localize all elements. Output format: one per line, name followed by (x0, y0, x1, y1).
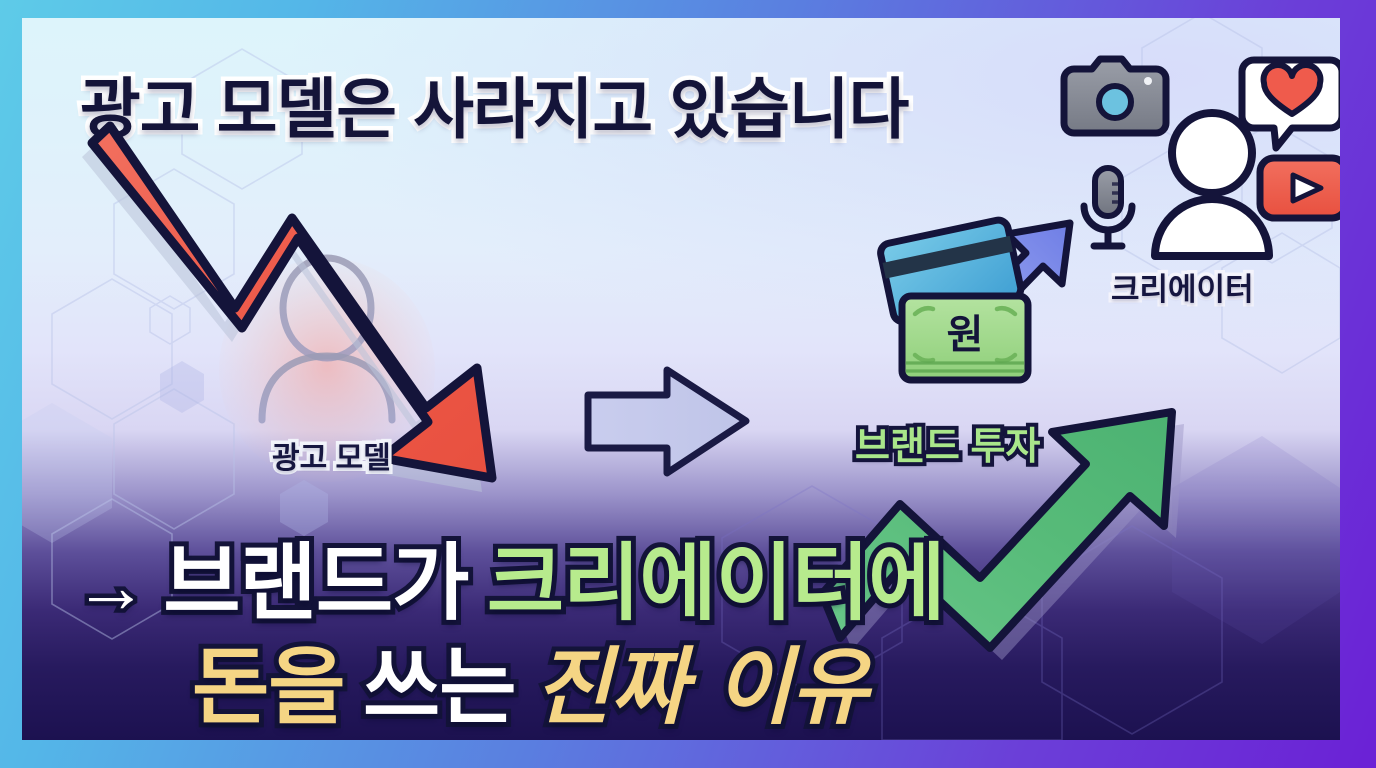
money-currency-text: 원 (947, 313, 984, 357)
headline-real-reason-word: 진짜 이유 (534, 638, 867, 736)
blue-up-arrow-icon (996, 223, 1070, 296)
page-title: 광고 모델은 사라지고 있습니다 (80, 56, 908, 152)
headline-brand-word: 브랜드가 (163, 536, 468, 630)
youtube-play-icon (1260, 158, 1340, 218)
label-ad-model: 광고 모델 (272, 433, 391, 477)
headline-line-1: →브랜드가크리에이터에 (74, 516, 963, 637)
heart-speech-bubble-icon (1242, 60, 1340, 148)
headline-creator-word: 크리에이터에 (487, 536, 945, 630)
headline-arrow-icon: → (74, 545, 147, 628)
banknote-icon: 원 (902, 296, 1028, 380)
thumbnail-root: 광고 모델은 사라지고 있습니다 (0, 0, 1376, 768)
camera-icon (1064, 59, 1166, 133)
thumbnail-canvas: 광고 모델은 사라지고 있습니다 (22, 18, 1340, 740)
headline-line-2: 돈을쓰는진짜 이유 (192, 620, 867, 740)
headline-money-word: 돈을 (192, 640, 345, 734)
headline-spend-word: 쓰는 (363, 640, 516, 734)
label-creator: 크리에이터 (1111, 264, 1254, 309)
microphone-icon (1084, 168, 1132, 246)
label-brand-investment: 브랜드 투자 (855, 415, 1040, 470)
credit-card-icon (879, 218, 1023, 323)
creator-avatar-icon (1155, 113, 1269, 256)
